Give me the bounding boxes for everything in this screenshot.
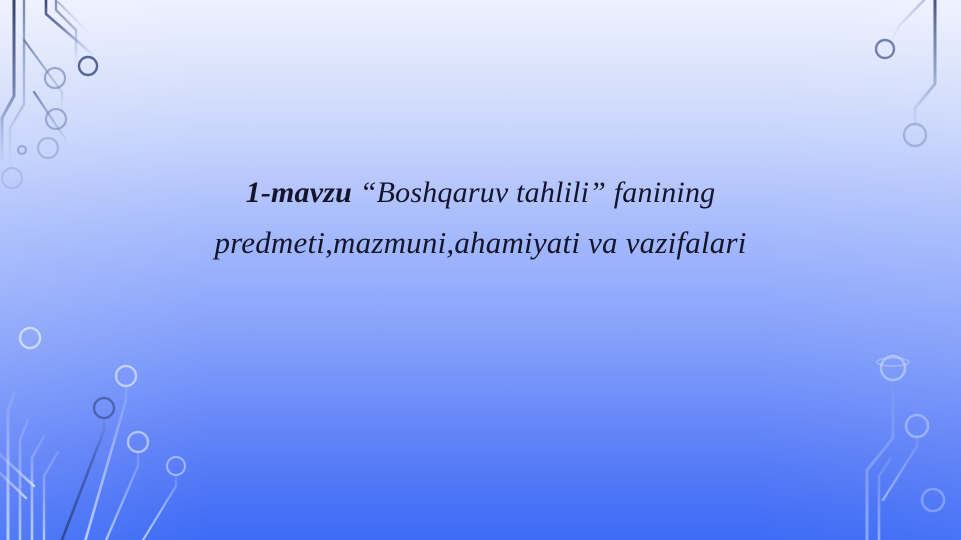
circuit-decoration-bottom-right xyxy=(821,350,961,540)
slide-canvas: 1-mavzu “Boshqaruv tahlili” fanining pre… xyxy=(0,0,961,540)
slide-title-line-2: predmeti,mazmuni,ahamiyati va vazifalari xyxy=(70,218,891,268)
slide-title-line-1-rest: “Boshqaruv tahlili” fanining xyxy=(352,176,715,209)
slide-title-line-1: 1-mavzu “Boshqaruv tahlili” fanining xyxy=(70,168,891,218)
slide-title-block: 1-mavzu “Boshqaruv tahlili” fanining pre… xyxy=(0,168,961,268)
slide-title-lead: 1-mavzu xyxy=(246,176,352,209)
circuit-decoration-bottom-left xyxy=(0,290,210,540)
